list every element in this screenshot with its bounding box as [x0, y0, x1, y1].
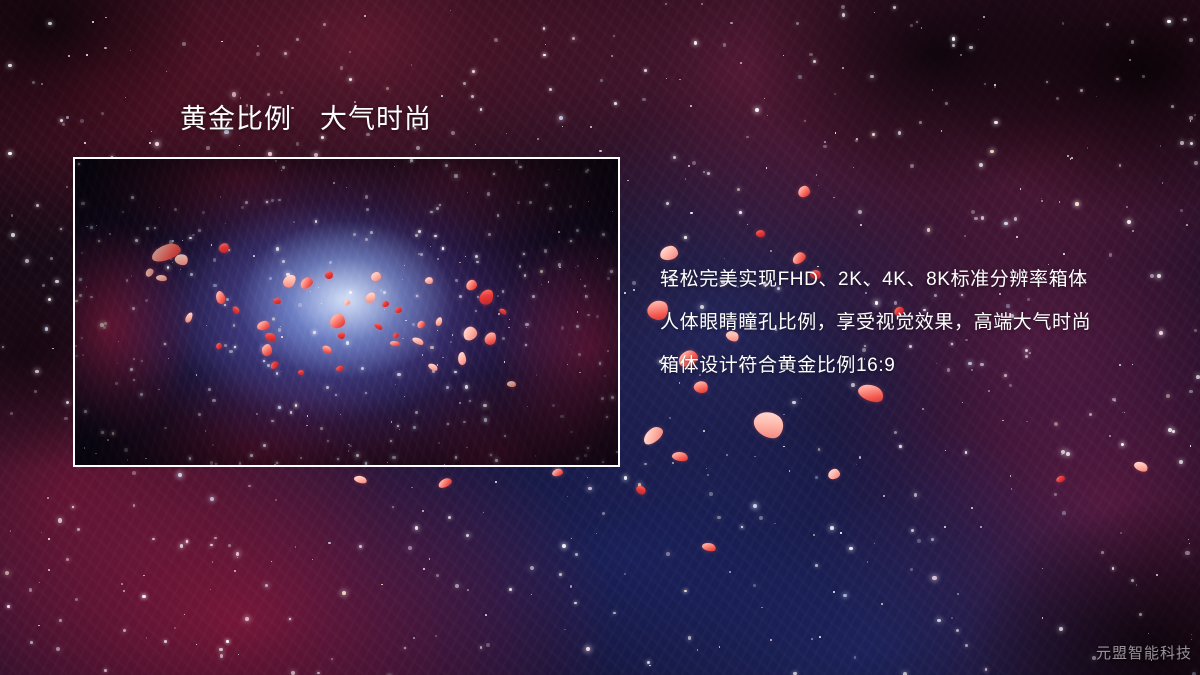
feature-description: 轻松完美实现FHD、2K、4K、8K标准分辨率箱体 人体眼睛瞳孔比例，享受视觉效… — [660, 258, 1160, 387]
figure-frame — [73, 157, 620, 467]
description-line-1: 轻松完美实现FHD、2K、4K、8K标准分辨率箱体 — [660, 258, 1160, 301]
page-title: 黄金比例 大气时尚 — [180, 103, 432, 137]
slide-root: 黄金比例 大气时尚 轻松完美实现FHD、2K、4K、8K标准分辨率箱体 人体眼睛… — [0, 0, 1200, 675]
figure-vignette — [75, 159, 618, 465]
description-line-3: 箱体设计符合黄金比例16:9 — [660, 344, 1160, 387]
description-line-2: 人体眼睛瞳孔比例，享受视觉效果，高端大气时尚 — [660, 301, 1160, 344]
watermark-logo-text: 元盟智能科技 — [1096, 642, 1192, 663]
